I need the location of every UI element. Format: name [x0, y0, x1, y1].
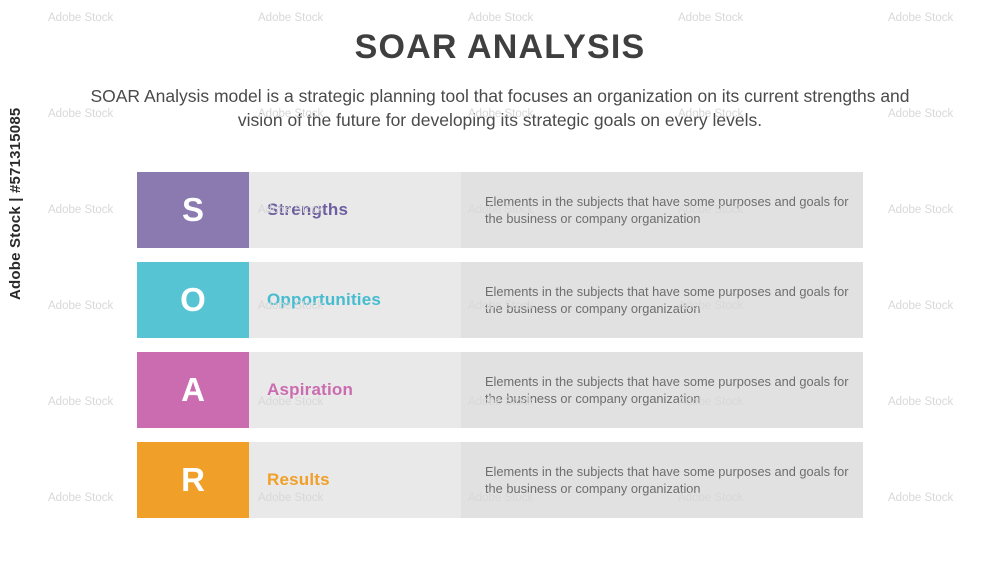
label-cell-aspiration: Aspiration	[249, 352, 461, 428]
description-cell-aspiration: Elements in the subjects that have some …	[461, 352, 863, 428]
label-cell-results: Results	[249, 442, 461, 518]
soar-row-aspiration[interactable]: A Aspiration Elements in the subjects th…	[137, 352, 863, 428]
page-title: SOAR ANALYSIS	[0, 28, 1000, 67]
row-label: Results	[267, 470, 330, 490]
watermark-tile: Adobe Stock	[888, 108, 953, 120]
watermark-tile: Adobe Stock	[468, 204, 533, 216]
row-description: Elements in the subjects that have some …	[485, 283, 849, 317]
watermark-tile: Adobe Stock	[678, 12, 743, 24]
letter-text: O	[180, 281, 206, 319]
letter-text: A	[181, 371, 205, 409]
watermark-tile: Adobe Stock	[258, 492, 323, 504]
row-description: Elements in the subjects that have some …	[485, 193, 849, 227]
watermark-tile: Adobe Stock	[258, 204, 323, 216]
watermark-tile: Adobe Stock	[888, 492, 953, 504]
slide-canvas: Adobe Stock | #571315085 SOAR ANALYSIS S…	[0, 0, 1000, 563]
watermark-tile: Adobe Stock	[48, 492, 113, 504]
row-description: Elements in the subjects that have some …	[485, 373, 849, 407]
letter-text: R	[181, 461, 205, 499]
soar-rows: S Strengths Elements in the subjects tha…	[137, 172, 863, 532]
row-description: Elements in the subjects that have some …	[485, 463, 849, 497]
watermark-tile: Adobe Stock	[468, 12, 533, 24]
watermark-tile: Adobe Stock	[258, 12, 323, 24]
watermark-tile: Adobe Stock	[888, 300, 953, 312]
watermark-tile: Adobe Stock	[258, 396, 323, 408]
watermark-tile: Adobe Stock	[48, 12, 113, 24]
watermark-tile: Adobe Stock	[678, 204, 743, 216]
letter-badge-o: O	[137, 262, 249, 338]
description-cell-results: Elements in the subjects that have some …	[461, 442, 863, 518]
letter-badge-r: R	[137, 442, 249, 518]
watermark-tile: Adobe Stock	[468, 300, 533, 312]
letter-badge-a: A	[137, 352, 249, 428]
watermark-tile: Adobe Stock	[888, 204, 953, 216]
watermark-tile: Adobe Stock	[468, 108, 533, 120]
watermark-tile: Adobe Stock	[678, 300, 743, 312]
watermark-tile: Adobe Stock	[888, 396, 953, 408]
letter-badge-s: S	[137, 172, 249, 248]
watermark-tile: Adobe Stock	[48, 108, 113, 120]
watermark-id-text: Adobe Stock | #571315085	[7, 108, 24, 300]
watermark-tile: Adobe Stock	[678, 108, 743, 120]
watermark-tile: Adobe Stock	[468, 492, 533, 504]
watermark-tile: Adobe Stock	[678, 396, 743, 408]
letter-text: S	[182, 191, 204, 229]
watermark-tile: Adobe Stock	[48, 396, 113, 408]
watermark-tile: Adobe Stock	[678, 492, 743, 504]
watermark-tile: Adobe Stock	[258, 108, 323, 120]
watermark-sidebar: Adobe Stock | #571315085	[0, 0, 40, 563]
watermark-tile: Adobe Stock	[258, 300, 323, 312]
watermark-tile: Adobe Stock	[468, 396, 533, 408]
watermark-tile: Adobe Stock	[48, 204, 113, 216]
watermark-tile: Adobe Stock	[888, 12, 953, 24]
soar-row-results[interactable]: R Results Elements in the subjects that …	[137, 442, 863, 518]
watermark-tile: Adobe Stock	[48, 300, 113, 312]
